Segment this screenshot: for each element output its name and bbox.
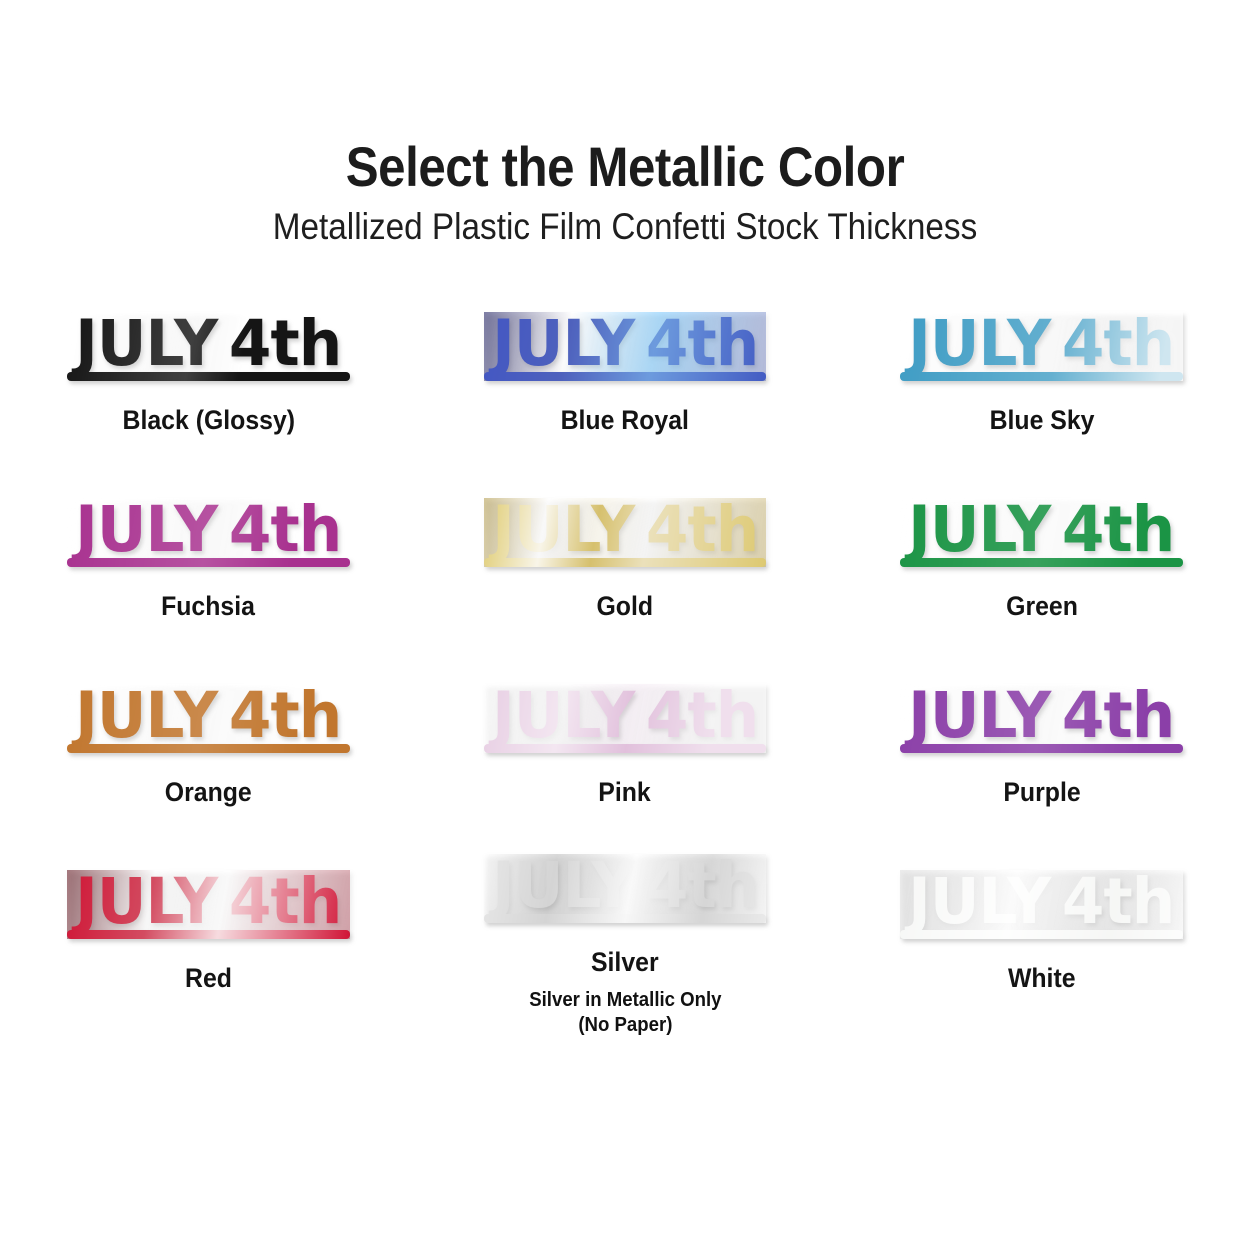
july-word: JULY: [75, 493, 217, 566]
confetti-baseline-bar: [900, 372, 1182, 381]
fourth-word: 4th: [634, 493, 758, 566]
note-line: (No Paper): [529, 1013, 721, 1039]
color-name-label: Fuchsia: [161, 591, 255, 622]
confetti-artwork: JULY4th: [484, 312, 766, 381]
confetti-baseline-bar: [900, 558, 1182, 567]
confetti-artwork: JULY4th: [900, 684, 1182, 753]
color-name-label: Blue Royal: [561, 405, 689, 436]
confetti-artwork: JULY4th: [484, 684, 766, 753]
july-4th-confetti-sample[interactable]: JULY4th: [25, 295, 391, 381]
july-4th-lettering: JULY4th: [905, 498, 1179, 567]
header: Select the Metallic Color Metallized Pla…: [0, 0, 1250, 247]
july-4th-lettering: JULY4th: [71, 684, 345, 753]
july-4th-confetti-sample[interactable]: JULY4th: [442, 481, 808, 567]
color-swatch-option[interactable]: JULY4thBlack (Glossy): [0, 295, 417, 481]
fourth-word: 4th: [217, 865, 341, 938]
color-name-label: White: [1008, 963, 1076, 994]
confetti-artwork: JULY4th: [67, 870, 349, 939]
confetti-artwork: JULY4th: [67, 498, 349, 567]
color-swatch-grid: JULY4thBlack (Glossy)JULY4thBlue RoyalJU…: [0, 295, 1250, 1039]
fourth-word: 4th: [217, 307, 341, 380]
color-swatch-option[interactable]: JULY4thFuchsia: [0, 481, 417, 667]
july-word: JULY: [492, 493, 634, 566]
confetti-baseline-bar: [484, 558, 766, 567]
july-word: JULY: [909, 307, 1051, 380]
july-4th-confetti-sample[interactable]: JULY4th: [442, 667, 808, 753]
color-name-label: Orange: [165, 777, 252, 808]
fourth-word: 4th: [1051, 865, 1175, 938]
confetti-artwork: JULY4th: [900, 498, 1182, 567]
july-4th-lettering: JULY4th: [905, 684, 1179, 753]
color-selection-page: Select the Metallic Color Metallized Pla…: [0, 0, 1250, 1250]
note-line: Silver in Metallic Only: [529, 988, 721, 1014]
july-4th-confetti-sample[interactable]: JULY4th: [442, 853, 808, 923]
fourth-word: 4th: [217, 493, 341, 566]
july-word: JULY: [909, 493, 1051, 566]
color-swatch-option[interactable]: JULY4thGreen: [833, 481, 1250, 667]
july-word: JULY: [75, 679, 217, 752]
fourth-word: 4th: [1051, 307, 1175, 380]
color-swatch-option[interactable]: JULY4thBlue Royal: [417, 295, 834, 481]
confetti-baseline-bar: [900, 930, 1182, 939]
color-name-label: Pink: [599, 777, 651, 808]
july-word: JULY: [492, 679, 634, 752]
july-4th-confetti-sample[interactable]: JULY4th: [859, 853, 1225, 939]
july-4th-confetti-sample[interactable]: JULY4th: [859, 295, 1225, 381]
july-4th-lettering: JULY4th: [905, 312, 1179, 381]
fourth-word: 4th: [1051, 493, 1175, 566]
color-name-label: Red: [185, 963, 232, 994]
color-name-label: Black (Glossy): [122, 405, 295, 436]
july-4th-confetti-sample[interactable]: JULY4th: [859, 481, 1225, 567]
color-swatch-option[interactable]: JULY4thGold: [417, 481, 834, 667]
july-4th-lettering: JULY4th: [488, 498, 762, 567]
july-word: JULY: [75, 307, 217, 380]
color-swatch-option[interactable]: JULY4thSilverSilver in Metallic Only(No …: [417, 853, 834, 1039]
page-title: Select the Metallic Color: [75, 138, 1175, 196]
color-swatch-option[interactable]: JULY4thPurple: [833, 667, 1250, 853]
fourth-word: 4th: [634, 307, 758, 380]
confetti-baseline-bar: [900, 744, 1182, 753]
color-name-label: Silver: [591, 947, 659, 978]
july-word: JULY: [75, 865, 217, 938]
color-swatch-option[interactable]: JULY4thPink: [417, 667, 834, 853]
july-word: JULY: [492, 849, 634, 922]
july-word: JULY: [909, 865, 1051, 938]
july-4th-confetti-sample[interactable]: JULY4th: [859, 667, 1225, 753]
confetti-baseline-bar: [484, 914, 766, 923]
july-word: JULY: [492, 307, 634, 380]
confetti-baseline-bar: [67, 372, 349, 381]
fourth-word: 4th: [634, 849, 758, 922]
color-swatch-option[interactable]: JULY4thOrange: [0, 667, 417, 853]
color-swatch-option[interactable]: JULY4thWhite: [833, 853, 1250, 1039]
july-4th-lettering: JULY4th: [71, 498, 345, 567]
color-name-label: Gold: [597, 591, 654, 622]
july-4th-lettering: JULY4th: [488, 854, 762, 923]
confetti-artwork: JULY4th: [67, 312, 349, 381]
color-name-label: Blue Sky: [989, 405, 1094, 436]
july-4th-confetti-sample[interactable]: JULY4th: [25, 667, 391, 753]
color-availability-note: Silver in Metallic Only(No Paper): [529, 988, 721, 1039]
confetti-baseline-bar: [484, 744, 766, 753]
july-4th-lettering: JULY4th: [71, 870, 345, 939]
july-4th-lettering: JULY4th: [905, 870, 1179, 939]
july-word: JULY: [909, 679, 1051, 752]
color-swatch-option[interactable]: JULY4thRed: [0, 853, 417, 1039]
confetti-baseline-bar: [484, 372, 766, 381]
confetti-artwork: JULY4th: [900, 870, 1182, 939]
confetti-artwork: JULY4th: [900, 312, 1182, 381]
confetti-artwork: JULY4th: [484, 498, 766, 567]
confetti-baseline-bar: [67, 744, 349, 753]
page-subtitle: Metallized Plastic Film Confetti Stock T…: [63, 208, 1188, 247]
confetti-artwork: JULY4th: [484, 854, 766, 923]
color-swatch-option[interactable]: JULY4thBlue Sky: [833, 295, 1250, 481]
confetti-baseline-bar: [67, 558, 349, 567]
confetti-baseline-bar: [67, 930, 349, 939]
july-4th-confetti-sample[interactable]: JULY4th: [442, 295, 808, 381]
fourth-word: 4th: [634, 679, 758, 752]
color-name-label: Green: [1006, 591, 1078, 622]
fourth-word: 4th: [1051, 679, 1175, 752]
color-name-label: Purple: [1003, 777, 1080, 808]
confetti-artwork: JULY4th: [67, 684, 349, 753]
july-4th-confetti-sample[interactable]: JULY4th: [25, 853, 391, 939]
july-4th-lettering: JULY4th: [488, 312, 762, 381]
july-4th-lettering: JULY4th: [71, 312, 345, 381]
fourth-word: 4th: [217, 679, 341, 752]
july-4th-lettering: JULY4th: [488, 684, 762, 753]
july-4th-confetti-sample[interactable]: JULY4th: [25, 481, 391, 567]
